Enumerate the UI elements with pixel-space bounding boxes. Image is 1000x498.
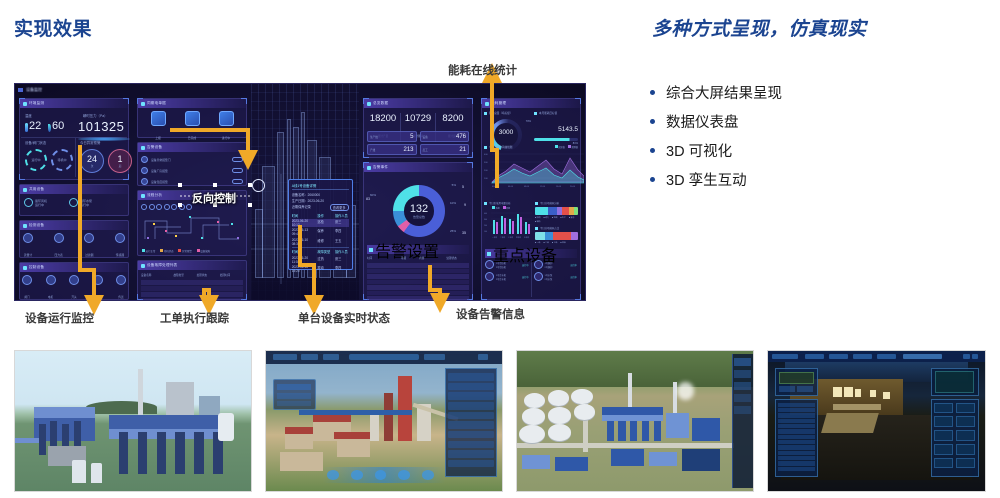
list-item-label: 数据仪表盘 <box>666 111 739 132</box>
topbar-title-chip <box>903 354 942 360</box>
donut-label-3: 10% <box>450 201 456 205</box>
subpanel-header: 告警设置 <box>367 245 469 254</box>
donut-value-4: 35 <box>462 231 466 235</box>
panel-title: 能耗管理 <box>491 101 506 106</box>
warehouse-topbar <box>768 351 985 362</box>
robot-icon <box>93 275 103 285</box>
key-device-item[interactable]: 1号空压机 2号空压机 运行中 <box>485 260 529 269</box>
metric-chip: 员工 21 <box>420 144 470 155</box>
legend-label: 实际值 <box>558 147 565 149</box>
table-row[interactable] <box>141 286 243 291</box>
svg-text:200: 200 <box>484 170 488 172</box>
annotation-label-realtime: 单台设备实时状态 <box>298 310 390 326</box>
topbar-icon-chip[interactable] <box>972 354 979 360</box>
key-device-item[interactable]: 1号冷水机 2号冷水机 运行中 <box>485 272 529 281</box>
svg-text:三车间: 三车间 <box>508 236 513 239</box>
dock-icon[interactable] <box>398 470 410 480</box>
alarm-item-icon <box>141 156 148 163</box>
popup-table-row[interactable]: 2023-06-20 10:12 巡检 张三 <box>292 219 349 227</box>
donut-center-value: 132 <box>410 204 428 215</box>
table-row[interactable] <box>141 292 243 297</box>
panel-header: 检测设备 <box>20 221 128 230</box>
process-flow-svg <box>141 213 245 245</box>
annotation-label-workorder: 工单执行跟踪 <box>160 310 229 326</box>
legend-label: 同期 <box>506 208 510 210</box>
page-title-right: 多种方式呈现，仿真现实 <box>652 14 867 41</box>
bell-icon <box>141 146 145 150</box>
kpi-value: 8200 <box>436 113 470 124</box>
donut-label-1: 60% <box>370 193 376 197</box>
panel-detect-devices: 检测设备 流量计 压力表 过滤器 传感器 <box>19 220 129 258</box>
bullet-dot-icon <box>650 90 655 95</box>
panel-header: 共用设备 <box>20 185 128 194</box>
table-header-row: 时间 等级 内容 处理状态 <box>367 256 469 260</box>
fault-count-badge: 1 起 <box>108 149 132 173</box>
gauge-value: 3000 <box>494 129 518 136</box>
annotation-label-monitor: 设备运行监控 <box>25 310 94 326</box>
twin-nav-chip[interactable] <box>301 354 318 360</box>
twin-topbar <box>266 351 502 364</box>
panel-header: 告警事件 <box>364 163 472 172</box>
humidity-icon <box>48 124 51 132</box>
table-row[interactable] <box>367 296 469 301</box>
fan-icon <box>24 198 33 207</box>
bullet-dot-icon <box>650 119 655 124</box>
twin-nav-chip[interactable] <box>273 354 297 360</box>
panel-alarm-events: 告警事件 132 告警总数 60% 83 5% 5 10% 9 25% 35 <box>363 162 473 300</box>
panel-title: 控制设备 <box>29 265 44 270</box>
svg-text:00:00: 00:00 <box>492 186 498 188</box>
list-item-label: 综合大屏结果呈现 <box>666 82 782 103</box>
panel-title: 环境监测 <box>29 101 44 106</box>
warehouse-right-panel-map[interactable] <box>931 368 979 396</box>
dock-icon[interactable] <box>375 470 387 480</box>
key-device-grid: 1号空压机 2号空压机 运行中 1号冷水机 2号冷水机 运行中 <box>485 260 577 297</box>
popup-field: 设备名称：2060000 <box>292 192 320 197</box>
kpi-value: 18200 <box>366 113 400 124</box>
panel-alarm-devices: 告警设备 设备异常报警门 设备厂房报警 设备温度报警 <box>137 142 247 186</box>
panel-energy: 能耗管理 能耗总量（吨标煤） 3000 70% <box>481 98 581 300</box>
target-title: 本月能耗目标值 <box>539 111 557 115</box>
stack-title-icon <box>535 227 538 230</box>
popup-more-button[interactable]: 查看更多 <box>330 204 349 211</box>
key-device-item[interactable]: 1号水泵 2号水泵 运行中 <box>534 272 578 281</box>
metric-chip: 产线 213 <box>367 144 417 155</box>
device-title-icon <box>487 252 491 256</box>
table-row[interactable] <box>367 263 469 268</box>
filter-icon <box>84 233 94 243</box>
kpi-value: 10729 <box>401 113 435 124</box>
dock-icon[interactable] <box>422 470 434 480</box>
ratio-title-icon <box>535 202 538 205</box>
gallery-item-2[interactable] <box>265 350 503 492</box>
alarm-item-icon <box>141 167 148 174</box>
panel-title: 检测设备 <box>29 223 44 228</box>
waterpump-icon <box>534 272 543 281</box>
energy-ratio-charts: 今日分项能耗分析 ■ 照明■ 动力 ■ 空调■ 生产 ■ 其他■ 辅助 <box>535 201 578 244</box>
twin-user-chip[interactable] <box>478 354 487 360</box>
alarm-count-badge: 24 次 <box>80 149 104 173</box>
gauge-title: 能耗总量（吨标煤） <box>489 111 512 115</box>
svg-text:100: 100 <box>484 231 487 233</box>
humidity-value: 60 <box>52 120 64 132</box>
popup-table-header: 时间 操作 操作人员 <box>292 213 349 218</box>
alarm-action-button[interactable] <box>232 168 243 173</box>
donut-label-4: 25% <box>450 229 456 233</box>
popup-table2-header: 时间 故障类型 操作人员 <box>292 247 349 254</box>
pressure-value: 101325 <box>78 119 124 134</box>
table-row[interactable] <box>367 280 469 285</box>
region-power-svg: 400300200100 一车间二车间三车间 四车间五车间 <box>484 210 532 240</box>
order-card-icon[interactable] <box>219 111 234 126</box>
panel-title: 告警事件 <box>373 165 388 170</box>
panel-env: 环境监测 温度 瞬时压力（Pa） 22 60 101325 <box>19 98 129 180</box>
scene-3d-plant-day <box>15 351 251 491</box>
topbar-nav-chip[interactable] <box>877 354 897 360</box>
twin-right-panel[interactable] <box>445 368 497 477</box>
svg-text:08:00: 08:00 <box>524 186 530 188</box>
list-item-label: 3D 孪生互动 <box>666 169 747 190</box>
gauge-icon <box>54 233 64 243</box>
gauge-percent: 70% <box>526 120 531 123</box>
gallery-item-1[interactable] <box>14 350 252 492</box>
gauge-title-icon <box>484 112 487 115</box>
panel-header: 同期电单据 <box>138 99 246 108</box>
popup-field: 生产日期：2023-06-20 <box>292 198 324 203</box>
dock-icon[interactable] <box>351 470 363 480</box>
panel-fault-table: 设备故障处理列表 设备名称 故障类型 处理状态 处理时间 <box>137 260 247 300</box>
table-row[interactable] <box>367 291 469 296</box>
panel-control-devices: 控制设备 阀门 电机 开关 机械手 传送 <box>19 262 129 300</box>
dashboard-3d-model-view[interactable]: A线1号设备详情 设备名称：2060000 生产日期：2023-06-20 近期… <box>251 84 359 300</box>
chiller-icon <box>485 272 494 281</box>
panel-header: 总览数据 <box>364 99 472 108</box>
popup-table2-row[interactable]: 2023-06-20 11:02 过热 张三 <box>292 256 349 264</box>
radar-icon <box>23 224 27 228</box>
table-row[interactable] <box>141 280 243 285</box>
sensor2-icon <box>115 233 125 243</box>
target-progress-bar <box>534 138 578 141</box>
svg-text:300: 300 <box>484 219 487 221</box>
twin-nav-chip[interactable] <box>323 354 340 360</box>
panel-title: 共用设备 <box>29 187 44 192</box>
temp-value: 22 <box>29 120 41 132</box>
svg-text:16:00: 16:00 <box>556 186 562 188</box>
metric-chip: 设备 476 <box>420 131 470 142</box>
order-card-icon[interactable] <box>185 111 200 126</box>
dashboard-column-summary: 总览数据 18200 累计产量 10729 累计能耗 8200 累 <box>359 84 477 300</box>
dashboard-screenshot: 设备监控 环境监测 温度 瞬时压力（Pa） 22 60 <box>14 83 586 301</box>
topbar-nav-chip[interactable] <box>853 354 873 360</box>
panel-header: 控制设备 <box>20 263 128 272</box>
svg-text:100: 100 <box>484 178 488 180</box>
list-icon <box>369 248 373 252</box>
ratio-stacked-bar-1 <box>535 207 578 215</box>
dashboard-column-env: 环境监测 温度 瞬时压力（Pa） 22 60 101325 <box>15 84 133 300</box>
list-item: 3D 可视化 <box>650 136 990 165</box>
alarm-action-button[interactable] <box>232 179 243 184</box>
panel-header: 设备故障处理列表 <box>138 261 246 270</box>
bullet-dot-icon <box>650 148 655 153</box>
ring-gauge-running: 运行中 <box>25 149 47 171</box>
scene-3d-warehouse-night <box>768 351 985 491</box>
annotation-label-reverse-control: 反向控制 <box>192 190 236 206</box>
meter-icon <box>23 233 33 243</box>
topbar-nav-chip[interactable] <box>805 354 825 360</box>
legend-label: 本期 <box>496 208 500 210</box>
bar-title-icon <box>484 202 487 205</box>
table-row[interactable] <box>367 285 469 290</box>
alarm-label: 今日异常预警 <box>80 140 100 145</box>
topbar-nav-chip[interactable] <box>829 354 849 360</box>
donut-value-2: 5 <box>462 185 464 189</box>
region-power-chart: 今日区域用电量分析 本期 同期 400300200100 <box>484 201 532 240</box>
popup-table-row[interactable]: 2023-06-13 09:44 保养 李四 <box>292 228 349 236</box>
pump-icon <box>69 198 78 207</box>
svg-text:400: 400 <box>484 154 488 156</box>
svg-text:400: 400 <box>484 213 487 215</box>
stack-title: 今日分项能耗占比 <box>540 226 559 230</box>
panel-title: 同期电单据 <box>147 101 166 106</box>
svg-text:12:00: 12:00 <box>540 186 546 188</box>
flow-icon <box>141 194 145 198</box>
svg-text:四车间: 四车间 <box>516 236 521 239</box>
bullet-dot-icon <box>650 177 655 182</box>
table-row[interactable] <box>367 269 469 274</box>
popup-table2-row[interactable]: 2023-06-18 15:20 振动 李四 <box>292 265 349 273</box>
ratio-title: 今日分项能耗分析 <box>540 201 559 205</box>
svg-text:二车间: 二车间 <box>500 236 505 239</box>
table-row[interactable] <box>141 298 243 301</box>
donut-value-1: 83 <box>366 197 370 201</box>
donut-value-3: 9 <box>464 203 466 207</box>
motor-icon <box>46 275 56 285</box>
cog-icon <box>23 188 27 192</box>
panel-title: 告警设备 <box>147 145 162 150</box>
load-curve-svg: 400300 200100 00:0004:00 08:0012:00 16:0… <box>484 150 584 188</box>
list-item[interactable]: 设备异常报警门 <box>141 155 243 164</box>
list-item: 3D 孪生互动 <box>650 165 990 194</box>
table-body <box>367 263 469 297</box>
svg-text:20:00: 20:00 <box>570 186 576 188</box>
warehouse-right-panel-grid[interactable] <box>931 399 979 477</box>
thermometer-icon <box>25 123 28 132</box>
device-detail-popup[interactable]: A线1号设备详情 设备名称：2060000 生产日期：2023-06-20 近期… <box>288 179 353 270</box>
panel-header: 能耗管理 <box>482 99 580 108</box>
belt-icon <box>116 275 126 285</box>
warehouse-left-panel-list[interactable] <box>775 399 818 477</box>
donut-center-label: 告警总数 <box>413 215 425 219</box>
twin-nav-chip[interactable] <box>424 354 445 360</box>
subpanel-header: 重点设备 <box>485 249 577 258</box>
legend-label: 预测值 <box>571 147 578 149</box>
twin-title-chip <box>349 354 420 361</box>
topbar-logo-chip[interactable] <box>772 354 798 360</box>
popup-field: 近期保养记录 <box>292 204 311 211</box>
metric-chip: 生产线 5 <box>367 131 417 142</box>
list-item: 数据仪表盘 <box>650 107 990 136</box>
alarm-action-button[interactable] <box>232 157 243 162</box>
table-row[interactable] <box>367 274 469 279</box>
svg-text:一车间: 一车间 <box>492 236 497 239</box>
svg-text:04:00: 04:00 <box>508 186 514 188</box>
alarm-donut-chart: 132 告警总数 <box>393 185 445 237</box>
key-device-item[interactable]: 1号锅炉 2号锅炉 运行中 <box>534 260 578 269</box>
svg-text:五车间: 五车间 <box>524 236 529 239</box>
table-header-row: 设备名称 故障类型 处理状态 处理时间 <box>141 273 243 277</box>
warehouse-left-panel-top[interactable] <box>775 368 818 396</box>
boiler-icon <box>534 260 543 269</box>
list-item-label: 3D 可视化 <box>666 140 732 161</box>
panel-orders: 同期电单据 上报 已完成 进行中 <box>137 98 247 138</box>
tankfarm-right-panel[interactable] <box>732 354 753 488</box>
gallery-item-3[interactable] <box>516 350 754 492</box>
scene-3d-twin-dashboard <box>266 351 502 491</box>
ring-gauge-standby: 待机中 <box>51 149 73 171</box>
annotation-label-energy: 能耗在线统计 <box>448 62 517 78</box>
compressor-icon <box>485 260 494 269</box>
trend-title-icon <box>484 146 487 149</box>
order-card-icon[interactable] <box>151 111 166 126</box>
bar-title: 今日区域用电量分析 <box>489 201 511 205</box>
ratio-stacked-bar-2 <box>535 232 578 240</box>
svg-text:200: 200 <box>484 225 487 227</box>
svg-text:300: 300 <box>484 162 488 164</box>
popup-table-row[interactable]: 2023-06-10 08:30 维修 王五 <box>292 238 349 246</box>
energy-gauge: 3000 70% <box>484 117 531 145</box>
panel-header: 环境监测 <box>20 99 128 108</box>
scene-3d-tankfarm <box>517 351 753 491</box>
dashboard-column-energy: 能耗管理 能耗总量（吨标煤） 3000 70% <box>477 84 585 300</box>
gallery-item-4[interactable] <box>767 350 986 492</box>
trend-title: 今日用电负荷曲线图 <box>489 145 512 149</box>
donut-label-2: 5% <box>452 183 456 187</box>
temp-label: 温度 <box>25 113 32 118</box>
device-status-label: 设备/阀门状态 <box>25 140 46 145</box>
table-body <box>141 280 243 297</box>
valve-icon <box>22 275 32 285</box>
load-curve-chart: 今日用电负荷曲线图 实际值 预测值 400300 <box>484 145 578 197</box>
page-title-left: 实现效果 <box>14 14 92 41</box>
dock-icon[interactable] <box>327 470 339 480</box>
topbar-icon-chip[interactable] <box>963 354 970 360</box>
slider-icon <box>23 266 27 270</box>
feature-list: 综合大屏结果呈现 数据仪表盘 3D 可视化 3D 孪生互动 <box>650 78 990 194</box>
target-title-icon <box>534 112 537 115</box>
alarm-item-icon <box>141 178 148 185</box>
twin-left-panel[interactable] <box>273 379 315 410</box>
annotation-label-alarm: 设备告警信息 <box>456 306 525 322</box>
panel-title: 总览数据 <box>373 101 388 106</box>
list-item: 综合大屏结果呈现 <box>650 78 990 107</box>
list-item[interactable]: 设备厂房报警 <box>141 166 243 175</box>
switch-icon <box>69 275 79 285</box>
table-icon <box>141 264 145 268</box>
list-item[interactable]: 设备温度报警 <box>141 177 243 186</box>
panel-summary: 总览数据 18200 累计产量 10729 累计能耗 8200 累 <box>363 98 473 158</box>
panel-header: 告警设备 <box>138 143 246 152</box>
target-value: 5143.5 <box>558 126 578 133</box>
panel-title: 设备故障处理列表 <box>147 263 177 268</box>
popup-title: A线1号设备详情 <box>292 183 349 190</box>
panel-title: 流程分析 <box>147 193 162 198</box>
panel-common-devices: 共用设备 循环风机运行中 循环水泵运行中 <box>19 184 129 216</box>
